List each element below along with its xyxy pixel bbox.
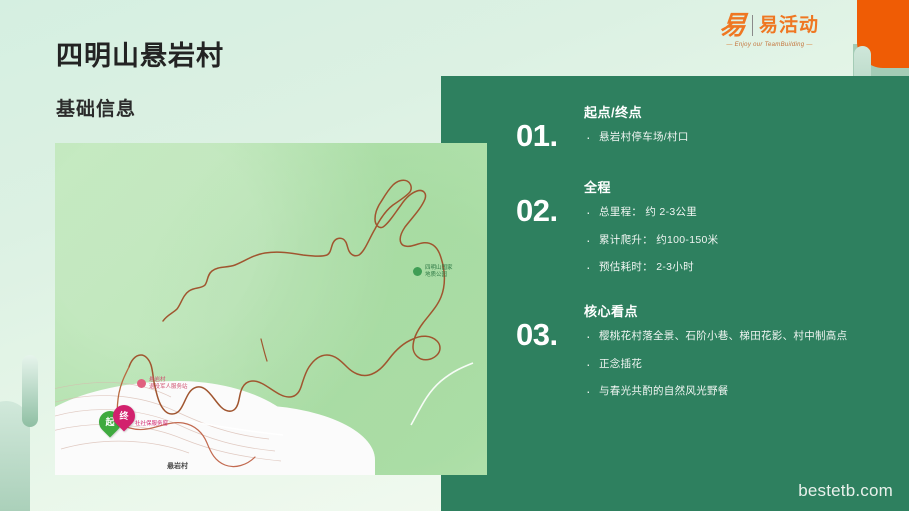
info-item-body: 全程 总里程： 约 2-3公里 累计爬升： 约100-150米 预估耗时： 2-… (584, 177, 903, 275)
map-poi-dot-icon (137, 379, 146, 388)
info-item-02: 02. 全程 总里程： 约 2-3公里 累计爬升： 约100-150米 预估耗时… (516, 177, 903, 275)
bullet-item: 预估耗时： 2-3小时 (584, 260, 903, 275)
map-label-service-window: 社社保服务窗 (135, 419, 168, 427)
map-poi-label-line1: 四明山国家 (425, 265, 453, 272)
info-item-bullets: 樱桃花村落全景、石阶小巷、梯田花影、村中制高点 正念插花 与春光共酌的自然风光野… (584, 329, 903, 399)
map-poi-label-line2: 退役军人服务站 (149, 384, 188, 391)
map-poi-label-line1: 悬岩村 (149, 377, 188, 384)
logo-divider (752, 15, 753, 36)
map-roads (175, 363, 473, 435)
info-item-01: 01. 起点/终点 悬岩村停车场/村口 (516, 102, 903, 151)
map-trail-branch (261, 339, 267, 361)
decor-pill-bottom-left (22, 355, 38, 427)
page-title: 四明山悬岩村 (56, 34, 224, 73)
info-item-number: 01. (516, 102, 584, 151)
map-poi-service-station[interactable]: 悬岩村 退役军人服务站 (137, 377, 188, 391)
info-item-number: 03. (516, 301, 584, 350)
bullet-item: 悬岩村停车场/村口 (584, 130, 903, 145)
map-poi-label: 悬岩村 退役军人服务站 (149, 377, 188, 391)
info-item-heading: 起点/终点 (584, 102, 903, 121)
logo-row: 易 易活动 (720, 12, 819, 38)
map-poi-label-line2: 地质公园 (425, 272, 453, 279)
watermark: bestetb.com (798, 481, 893, 501)
info-panel: 01. 起点/终点 悬岩村停车场/村口 02. 全程 总里程： 约 2-3公里 … (441, 76, 909, 511)
route-map[interactable]: 四明山国家 地质公园 悬岩村 退役军人服务站 起 终 社社保服务窗 悬岩村 (55, 143, 487, 475)
slide-root: 四明山悬岩村 基础信息 易 易活动 — Enjoy our TeamBuildi… (0, 0, 909, 511)
logo-tagline-dash-left: — (726, 42, 732, 48)
bullet-item: 总里程： 约 2-3公里 (584, 205, 903, 220)
brand-logo: 易 易活动 — Enjoy our TeamBuilding — (720, 12, 819, 48)
map-poi-label: 四明山国家 地质公园 (425, 265, 453, 279)
map-poi-dot-icon (413, 267, 422, 276)
info-item-bullets: 总里程： 约 2-3公里 累计爬升： 约100-150米 预估耗时： 2-3小时 (584, 205, 903, 275)
map-marker-end-label: 终 (119, 412, 128, 421)
page-subtitle: 基础信息 (56, 94, 136, 121)
bullet-item: 樱桃花村落全景、石阶小巷、梯田花影、村中制高点 (584, 329, 903, 344)
info-item-list: 01. 起点/终点 悬岩村停车场/村口 02. 全程 总里程： 约 2-3公里 … (516, 102, 903, 425)
info-item-body: 起点/终点 悬岩村停车场/村口 (584, 102, 903, 145)
info-item-body: 核心看点 樱桃花村落全景、石阶小巷、梯田花影、村中制高点 正念插花 与春光共酌的… (584, 301, 903, 399)
logo-mark-icon: 易 (719, 12, 748, 38)
logo-tagline-dash-right: — (806, 42, 812, 48)
bullet-item: 与春光共酌的自然风光野餐 (584, 384, 903, 399)
info-item-number: 02. (516, 177, 584, 226)
info-item-heading: 全程 (584, 177, 903, 196)
info-item-03: 03. 核心看点 樱桃花村落全景、石阶小巷、梯田花影、村中制高点 正念插花 与春… (516, 301, 903, 399)
logo-tagline: — Enjoy our TeamBuilding — (726, 42, 812, 48)
info-item-heading: 核心看点 (584, 301, 903, 320)
bullet-item: 正念插花 (584, 357, 903, 372)
map-poi-geopark[interactable]: 四明山国家 地质公园 (413, 265, 453, 279)
logo-wordmark: 易活动 (759, 16, 819, 35)
bullet-item: 累计爬升： 约100-150米 (584, 233, 903, 248)
logo-tagline-text: Enjoy our TeamBuilding (735, 42, 805, 48)
info-item-bullets: 悬岩村停车场/村口 (584, 130, 903, 145)
map-label-village: 悬岩村 (167, 461, 188, 471)
